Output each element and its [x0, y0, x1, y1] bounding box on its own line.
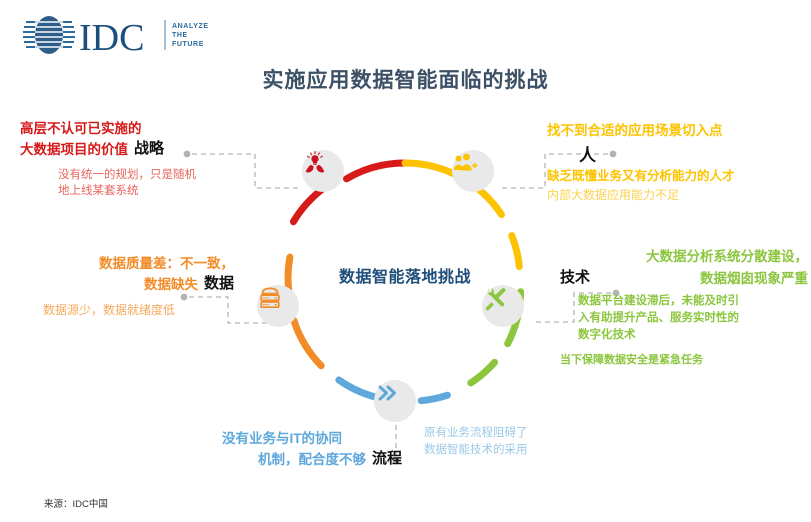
wheel-node-tech[interactable]: [482, 285, 524, 327]
source-note: 来源：IDC中国: [44, 496, 108, 510]
tech-sub-1: 数据平台建设滞后，未能及时引: [578, 293, 808, 310]
hands-lightbulb-icon: [302, 150, 328, 176]
people-headline: 找不到合适的应用场景切入点: [547, 122, 799, 139]
process-headline-1: 没有业务与IT的协同: [222, 430, 402, 447]
strategy-sub-1: 没有统一的规划，只是随机: [58, 168, 235, 184]
double-chevron-icon: [374, 380, 400, 406]
svg-text:FUTURE: FUTURE: [172, 41, 204, 48]
process-sub-2: 数据智能技术的采用: [424, 442, 584, 459]
people-sub: 缺乏既懂业务又有分析能力的人才: [547, 168, 799, 185]
add-people-icon: [452, 150, 478, 176]
tech-tag: 技术: [560, 266, 590, 287]
data-sub: 数据源少，数据就绪度低: [6, 302, 234, 318]
tech-sub-3: 数字化技术: [578, 327, 808, 344]
wheel-center-label: 数据智能落地挑战: [255, 263, 555, 287]
strategy-headline-2: 大数据项目的价值: [20, 141, 128, 158]
process-sub-block: 原有业务流程阻碍了 数据智能技术的采用: [424, 425, 584, 458]
data-tag: 数据: [204, 272, 234, 293]
block-tech: 大数据分析系统分散建设， 技术 数据烟囱现象严重 数据平台建设滞后，未能及时引 …: [560, 248, 808, 368]
wheel-node-people[interactable]: [452, 150, 494, 192]
tools-icon: [482, 285, 508, 311]
tech-headline-2: 数据烟囱现象严重: [596, 270, 808, 287]
svg-text:ANALYZE: ANALYZE: [172, 23, 209, 30]
tech-sub-2: 入有助提升产品、服务实时性的: [578, 310, 808, 327]
wheel-node-data[interactable]: [257, 285, 299, 327]
idc-wordmark: IDC: [79, 17, 144, 58]
people-sub2: 内部大数据应用能力不足: [547, 187, 799, 203]
process-sub-1: 原有业务流程阻碍了: [424, 425, 584, 442]
process-tag: 流程: [372, 447, 402, 468]
block-process: 没有业务与IT的协同 机制，配合度不够 流程: [222, 430, 402, 468]
process-headline-2: 机制，配合度不够: [258, 451, 366, 468]
tech-sub2: 当下保障数据安全是紧急任务: [560, 353, 808, 368]
block-data: 数据质量差：不一致， 数据缺失 数据 数据源少，数据就绪度低: [6, 255, 234, 318]
strategy-tag: 战略: [134, 137, 164, 158]
slide-canvas: IDC ANALYZE THE FUTURE 实施应用数据智能面临的挑战: [0, 0, 811, 522]
strategy-headline-1: 高层不认可已实施的: [20, 120, 235, 137]
people-tag: 人: [579, 141, 596, 166]
idc-logo: IDC ANALYZE THE FUTURE: [22, 12, 212, 58]
page-title: 实施应用数据智能面临的挑战: [0, 64, 811, 94]
data-headline-2: 数据缺失: [144, 276, 198, 293]
tech-headline-1: 大数据分析系统分散建设，: [560, 248, 808, 265]
wheel-node-process[interactable]: [374, 380, 416, 422]
challenge-wheel: 数据智能落地挑战: [255, 135, 555, 435]
database-stack-icon: [257, 285, 283, 311]
idc-globe-icon: [23, 16, 75, 54]
svg-text:THE: THE: [172, 32, 188, 39]
block-people: 找不到合适的应用场景切入点 人 缺乏既懂业务又有分析能力的人才 内部大数据应用能…: [547, 122, 799, 203]
block-strategy: 高层不认可已实施的 大数据项目的价值 战略 没有统一的规划，只是随机 地上线某套…: [20, 120, 235, 199]
strategy-sub-2: 地上线某套系统: [58, 184, 235, 200]
wheel-node-strategy[interactable]: [302, 150, 344, 192]
data-headline-1: 数据质量差：不一致，: [6, 255, 234, 272]
